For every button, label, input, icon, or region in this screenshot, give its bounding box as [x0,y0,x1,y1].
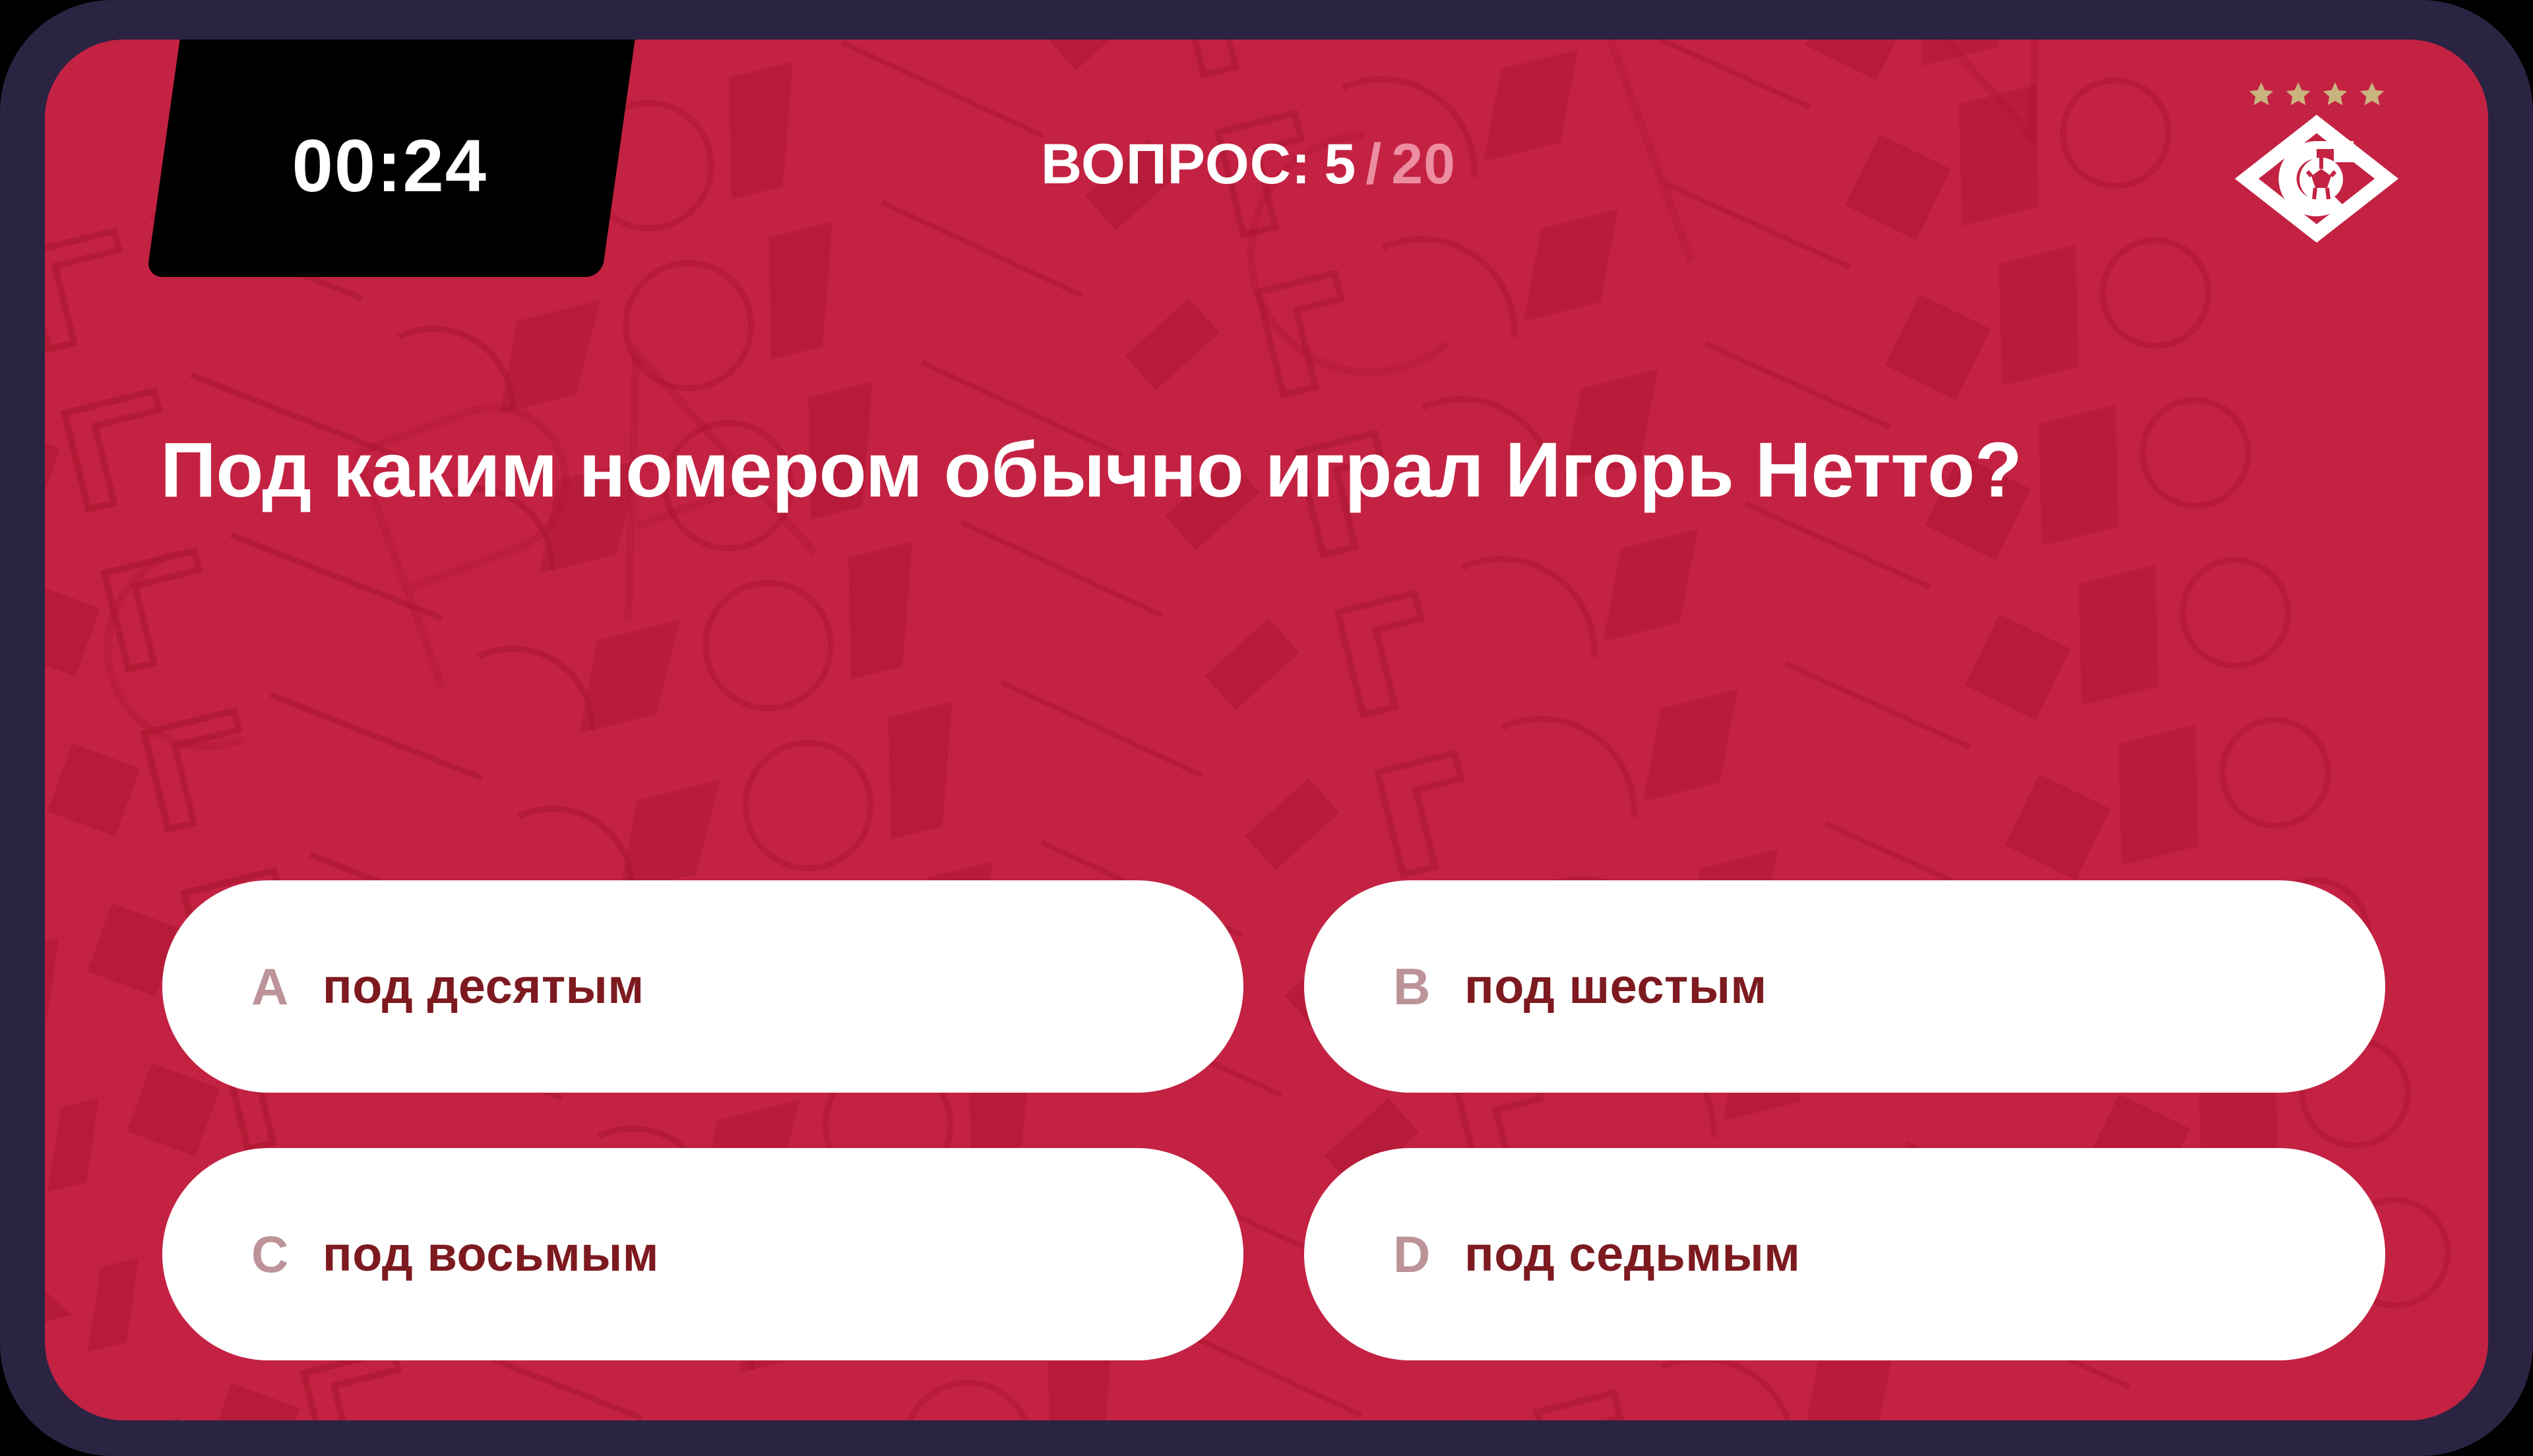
question-counter-current: 5 [1325,132,1357,197]
answer-label-a: под десятым [323,962,644,1011]
answer-letter-d: D [1393,1228,1464,1280]
question-counter-label: ВОПРОС: [1041,132,1311,197]
answer-option-c[interactable]: C под восьмым [162,1148,1243,1360]
question-counter-total: 20 [1391,132,1456,197]
quiz-panel: 00:24 ВОПРОС: 5 / 20 [45,40,2488,1420]
answer-option-b[interactable]: B под шестым [1304,880,2385,1093]
star-icon [2247,80,2275,108]
quiz-frame: 00:24 ВОПРОС: 5 / 20 [0,0,2533,1456]
star-icon [2284,80,2312,108]
star-icon [2358,80,2386,108]
timer-value: 00:24 [292,129,487,203]
spartak-crest [2231,79,2402,251]
answer-label-d: под седьмым [1464,1230,1800,1279]
answer-option-d[interactable]: D под седьмым [1304,1148,2385,1360]
question-counter-separator: / [1365,132,1382,197]
answer-label-c: под восьмым [323,1230,659,1279]
spartak-diamond-icon [2231,111,2402,247]
answer-letter-a: A [251,961,323,1012]
crest-stars-row [2231,79,2402,109]
answer-label-b: под шестым [1464,962,1767,1011]
timer-badge: 00:24 [146,40,636,277]
answer-option-a[interactable]: A под десятым [162,880,1243,1093]
answer-letter-c: C [251,1228,323,1280]
star-icon [2321,80,2349,108]
question-text: Под каким номером обычно играл Игорь Нет… [160,415,2271,526]
answers-grid: A под десятым B под шестым C под восьмым… [162,880,2385,1360]
question-counter: ВОПРОС: 5 / 20 [1041,132,1456,197]
answer-letter-b: B [1393,961,1464,1012]
